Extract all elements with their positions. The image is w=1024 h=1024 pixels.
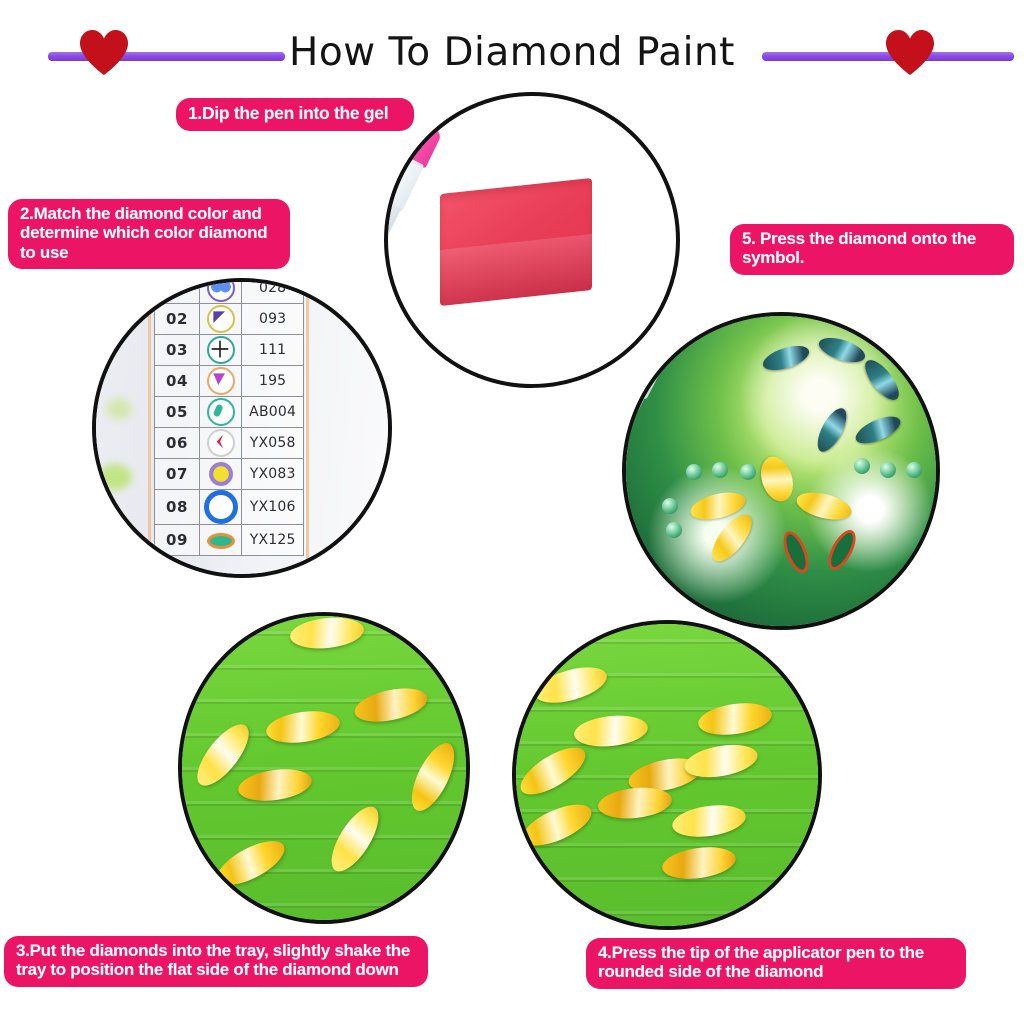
gem-dark [760,341,812,375]
chart-row-symbol [199,335,241,366]
chart-row-code: YX058 [242,428,304,459]
chart-paper: 028 02 093 03 [92,278,392,578]
photo-color-symbol-chart: 028 02 093 03 [92,278,392,578]
gem-round [686,464,702,480]
pen-tip [622,410,628,456]
table-row: 09 YX125 [155,525,304,556]
gem-dark [859,355,904,405]
filled-dot-symbol [209,462,233,486]
chart-row-number: 04 [155,366,200,397]
chart-row-number: 05 [155,397,200,428]
diamond [289,614,366,652]
gem-round [740,464,756,480]
ring-symbol [204,490,238,524]
diamond [514,739,593,804]
chart-row-number: 03 [155,335,200,366]
chart-row-symbol [199,304,241,335]
table-row: 03 111 [155,335,304,366]
felt-symbol-petal [778,528,813,576]
diamond [264,707,341,747]
diamond [323,800,388,879]
table-row: 07 YX083 [155,459,304,490]
infographic-root: How To Diamond Paint 1.Dip the pen into … [0,0,1024,1024]
triangle-symbol [207,367,235,395]
chart-row-number: 06 [155,428,200,459]
table-row: 04 195 [155,366,304,397]
chart-margin-line [306,278,309,578]
gem-yellow-selected [756,452,799,505]
diamond [236,765,313,805]
diamond [660,843,737,883]
chart-row-code: 093 [242,304,304,335]
chart-row-code: YX083 [242,459,304,490]
chart-row-symbol [199,428,241,459]
step-1-label: 1.Dip the pen into the gel [176,98,414,131]
blurred-gem-blob [92,514,122,538]
blurred-gem-blob [106,398,132,420]
photo-1-caption: photo-pen-dipping-into-gel [388,96,389,97]
gem-yellow [794,488,854,525]
chart-row-symbol [199,397,241,428]
chart-row-number: 08 [155,490,200,525]
page-title: How To Diamond Paint [0,30,1024,75]
chart-row-number: 07 [155,459,200,490]
double-dot-circle-symbol [207,278,235,302]
diamond [531,660,610,709]
gem-dark [812,404,852,456]
chart-margin-line [148,278,151,578]
green-tray [178,612,470,924]
gem-round [880,462,896,478]
diamond [573,712,650,750]
mandala-canvas [622,312,940,630]
step-4-label: 4.Press the tip of the applicator pen to… [586,938,966,989]
diamond [517,796,597,854]
chart-row-symbol [199,366,241,397]
chart-row-code: YX106 [242,490,304,525]
table-row: 08 YX106 [155,490,304,525]
gem-round [712,462,728,478]
chart-row-code: YX125 [242,525,304,556]
leaf-symbol [207,533,235,549]
chart-row-symbol [199,278,241,304]
gem-dark [816,333,868,367]
step-3-label: 3.Put the diamonds into the tray, slight… [4,936,428,987]
table-row: 06 YX058 [155,428,304,459]
chart-row-code: 195 [242,366,304,397]
triangle-symbol [207,305,235,333]
diamond [352,683,431,728]
gem-round [662,498,678,514]
pen-body [512,660,531,719]
chart-row-number: 02 [155,304,200,335]
diamond [597,784,674,822]
diamond [403,737,462,817]
blurred-gem-blob [98,464,132,490]
chart-row-code: AB004 [242,397,304,428]
chart-row-symbol [199,490,241,525]
diamond [211,832,290,893]
photo-placing-diamond-on-canvas: photo-placing-diamond-on-canvas [622,312,940,630]
gem-round [906,462,922,478]
photo-diamonds-in-tray: photo-diamonds-in-tray [178,612,470,924]
table-row: 02 093 [155,304,304,335]
gem-dark [852,411,904,449]
gem-round [854,458,870,474]
oval-bar-symbol [207,398,235,426]
table-row: 05 AB004 [155,397,304,428]
gem-round [666,522,682,538]
chart-row-number: 09 [155,525,200,556]
diamond [670,801,747,841]
step-5-label: 5. Press the diamond onto the symbol. [730,224,1014,275]
step-2-label: 2.Match the diamond color and determine … [8,199,290,269]
header: How To Diamond Paint [0,10,1024,82]
felt-symbol-petal [823,526,861,574]
chart-row-code: 028 [242,278,304,304]
green-tray [512,620,822,930]
table-row: 028 [155,278,304,304]
chart-row-number [155,278,200,304]
plus-symbol [207,336,235,364]
color-symbol-table: 028 02 093 03 [154,278,304,556]
chart-row-code: 111 [242,335,304,366]
chart-row-symbol [199,525,241,556]
gel-block [440,178,592,306]
chart-row-symbol [199,459,241,490]
diamond [696,699,773,739]
photo-pen-picking-up-diamond: photo-pen-picking-up-diamond [512,620,822,930]
chevron-left-symbol [207,429,235,457]
